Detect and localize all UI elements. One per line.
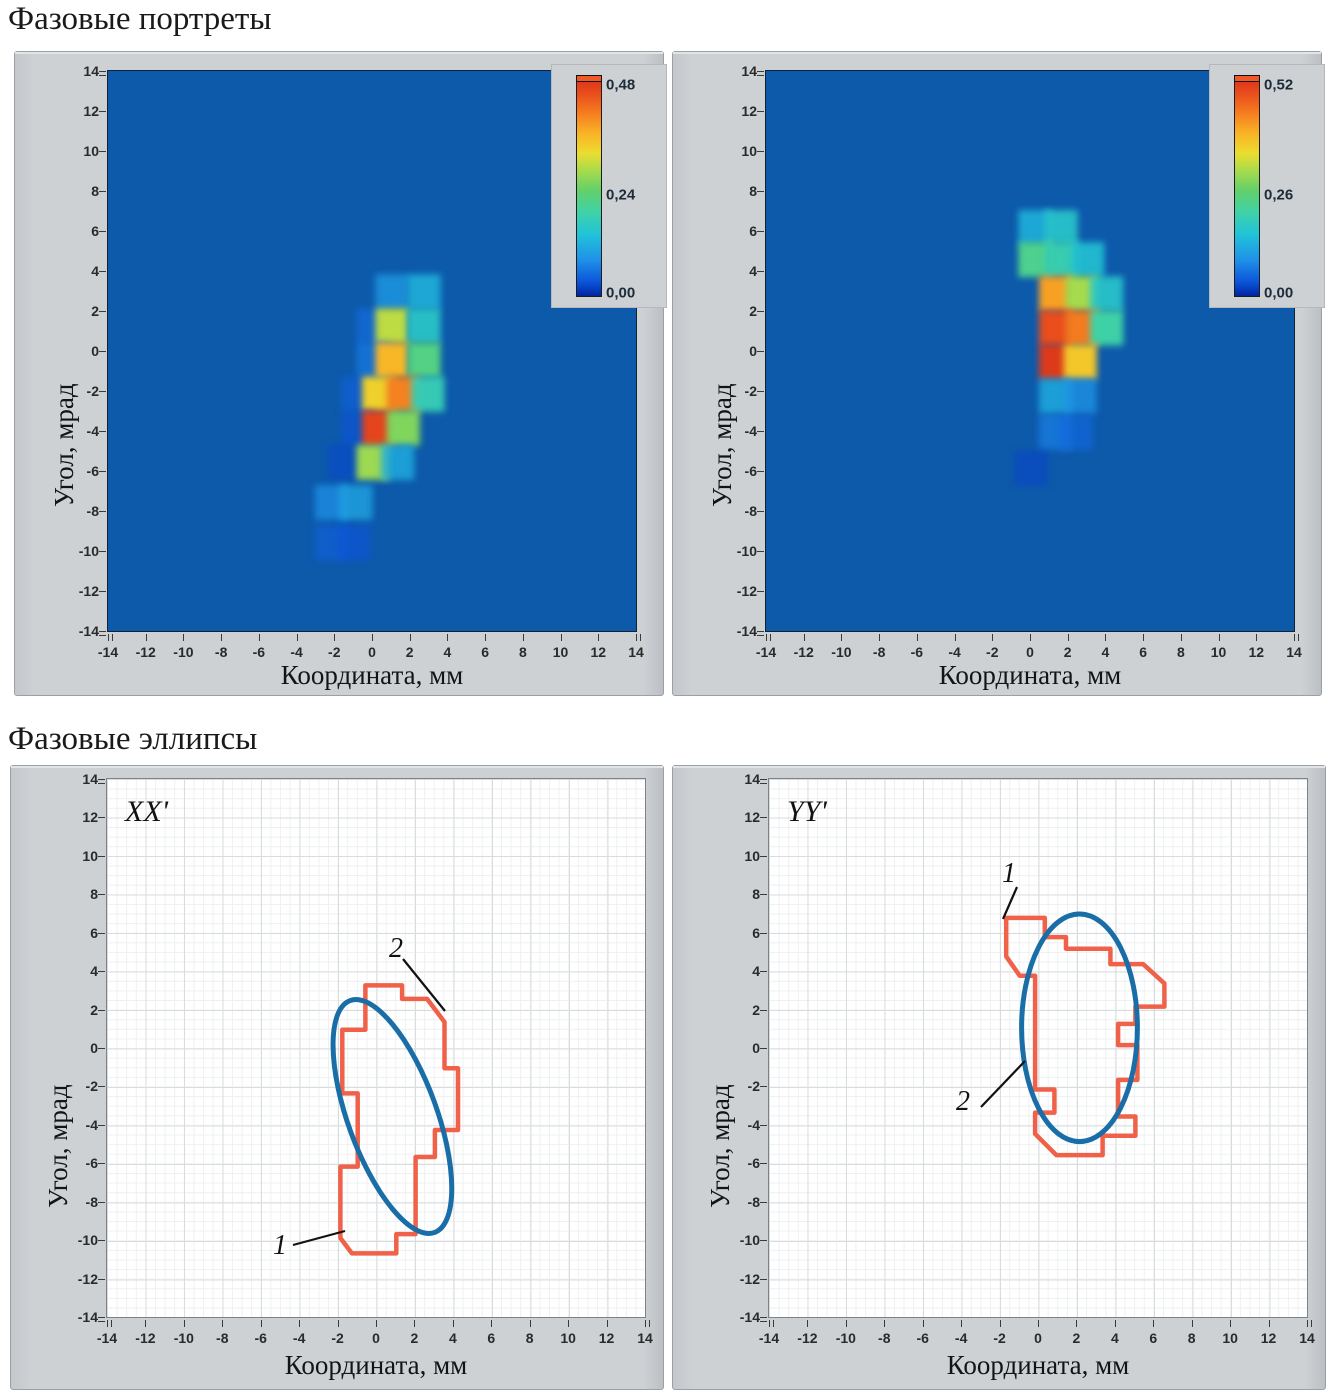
y-tick-mark (760, 971, 767, 972)
x-tick-mark (297, 634, 298, 641)
x-tick-mark (222, 1320, 223, 1327)
x-tick-label: -4 (293, 1330, 305, 1346)
x-tick-label: -14 (756, 644, 776, 660)
y-tick-label: 10 (61, 143, 99, 159)
y-tick-label: -6 (719, 463, 757, 479)
y-tick-mark (760, 1163, 767, 1164)
panel-portrait-yy: Угол, мрад 14121086420-2-4-6-8-10-12-14 … (672, 51, 1322, 696)
x-tick-label: -8 (215, 644, 227, 660)
x-tick-label: -10 (831, 644, 851, 660)
y-tick-mark (757, 71, 764, 76)
x-tick-mark (1219, 634, 1220, 641)
y-tick-mark (760, 1317, 767, 1322)
y-tick-mark (757, 111, 764, 112)
x-tick-mark (453, 1320, 454, 1327)
x-axis-title-portrait-yy: Координата, мм (765, 660, 1295, 691)
y-tick-label: 0 (722, 1040, 760, 1056)
x-tick-mark (1038, 1320, 1039, 1327)
y-tick-mark (760, 817, 767, 818)
y-tick-label: -12 (61, 583, 99, 599)
y-tick-label: -2 (719, 383, 757, 399)
colorbar-panel-portrait-xx: 0,48 0,24 0,00 (551, 64, 667, 308)
x-tick-mark (1115, 1320, 1116, 1327)
x-tick-label: -10 (173, 644, 193, 660)
y-tick-label: 10 (719, 143, 757, 159)
y-tick-label: -10 (60, 1232, 98, 1248)
y-tick-label: 14 (719, 63, 757, 79)
x-tick-label: -10 (174, 1330, 194, 1346)
x-tick-label: -12 (794, 644, 814, 660)
y-tick-label: -14 (719, 623, 757, 639)
x-tick-label: -6 (254, 1330, 266, 1346)
y-tick-label: 6 (61, 223, 99, 239)
x-tick-label: 2 (411, 1330, 419, 1346)
y-tick-label: -4 (719, 423, 757, 439)
y-tick-mark (760, 856, 767, 857)
y-tick-label: 8 (719, 183, 757, 199)
y-tick-label: -6 (61, 463, 99, 479)
y-tick-mark (99, 511, 106, 512)
plot-area-ellipse-xx: XX' (106, 778, 646, 1318)
x-tick-mark (1153, 1320, 1154, 1327)
y-tick-mark (98, 817, 105, 818)
y-tick-label: 0 (61, 343, 99, 359)
y-tick-mark (757, 471, 764, 472)
y-tick-mark (760, 779, 767, 784)
y-tick-mark (99, 231, 106, 232)
y-tick-mark (760, 933, 767, 934)
y-tick-label: 10 (722, 848, 760, 864)
x-tick-label: 4 (449, 1330, 457, 1346)
x-tick-label: -4 (290, 644, 302, 660)
y-tick-mark (757, 391, 764, 392)
y-tick-mark (757, 271, 764, 272)
x-tick-mark (917, 634, 918, 641)
y-tick-mark (757, 511, 764, 512)
y-tick-mark (757, 591, 764, 592)
x-tick-mark (1068, 634, 1069, 641)
x-tick-label: 10 (1222, 1330, 1238, 1346)
x-tick-mark (221, 634, 222, 641)
y-tick-mark (98, 1163, 105, 1164)
colorbar-tick-max-portrait-xx: 0,48 (606, 77, 635, 94)
x-tick-mark (769, 1320, 774, 1327)
x-tick-mark (961, 1320, 962, 1327)
y-tick-label: 2 (719, 303, 757, 319)
x-tick-label: 6 (1149, 1330, 1157, 1346)
x-tick-label: 12 (590, 644, 606, 660)
annotation-label-2-ellipse-xx: 2 (389, 933, 403, 965)
y-tick-label: -14 (61, 623, 99, 639)
y-tick-label: -12 (722, 1271, 760, 1287)
y-tick-mark (99, 351, 106, 352)
y-tick-label: 2 (61, 303, 99, 319)
y-tick-mark (99, 71, 106, 76)
x-tick-label: 14 (1299, 1330, 1315, 1346)
y-tick-label: -2 (60, 1078, 98, 1094)
colorbar-tick-mid-portrait-yy: 0,26 (1264, 187, 1293, 204)
x-tick-mark (491, 1320, 492, 1327)
panel-ellipse-yy: Угол, мрад 14121086420-2-4-6-8-10-12-14 … (672, 765, 1326, 1390)
y-tick-label: -12 (719, 583, 757, 599)
panel-ellipse-xx: Угол, мрад 14121086420-2-4-6-8-10-12-14 … (10, 765, 664, 1390)
y-tick-label: 12 (61, 103, 99, 119)
y-tick-mark (99, 591, 106, 592)
x-tick-label: 12 (1261, 1330, 1277, 1346)
x-tick-mark (598, 634, 599, 641)
x-tick-mark (1192, 1320, 1193, 1327)
measured-contour-path (340, 985, 458, 1253)
x-tick-label: 8 (1188, 1330, 1196, 1346)
x-tick-mark (1181, 634, 1182, 641)
x-tick-label: 2 (1064, 644, 1072, 660)
y-tick-mark (98, 779, 105, 784)
x-tick-label: 10 (553, 644, 569, 660)
x-tick-label: -14 (759, 1330, 779, 1346)
x-tick-label: -14 (98, 644, 118, 660)
x-tick-mark (376, 1320, 377, 1327)
y-tick-mark (99, 551, 106, 552)
y-tick-mark (98, 1086, 105, 1087)
y-tick-mark (98, 1317, 105, 1322)
x-tick-label: -2 (328, 644, 340, 660)
colorbar-gradient-portrait-xx (576, 75, 602, 297)
y-tick-mark (99, 391, 106, 392)
x-tick-mark (183, 634, 184, 641)
annotation-leader-line (403, 959, 445, 1011)
y-axis-title-ellipse-yy: Угол, мрад (705, 1084, 736, 1208)
x-tick-label: 4 (1111, 1330, 1119, 1346)
colorbar-overflow-cap-portrait-xx (576, 75, 602, 82)
x-tick-mark (645, 1320, 650, 1327)
y-tick-mark (98, 1010, 105, 1011)
x-tick-label: 6 (1139, 644, 1147, 660)
section-title-phase-ellipses: Фазовые эллипсы (4, 722, 257, 757)
x-tick-mark (607, 1320, 608, 1327)
y-tick-label: 0 (719, 343, 757, 359)
y-tick-mark (757, 231, 764, 232)
y-tick-mark (760, 1010, 767, 1011)
y-axis-title-ellipse-xx: Угол, мрад (43, 1084, 74, 1208)
y-tick-mark (760, 1086, 767, 1087)
y-tick-mark (99, 191, 106, 192)
y-tick-mark (98, 1279, 105, 1280)
y-tick-label: 14 (722, 771, 760, 787)
x-tick-mark (261, 1320, 262, 1327)
y-tick-label: 8 (61, 183, 99, 199)
x-tick-label: 4 (444, 644, 452, 660)
x-tick-label: 8 (1177, 644, 1185, 660)
colorbar-panel-portrait-yy: 0,52 0,26 0,00 (1209, 64, 1325, 308)
y-tick-label: 6 (719, 223, 757, 239)
measured-contour-path (1006, 918, 1164, 1155)
y-tick-label: -10 (61, 543, 99, 559)
x-tick-mark (1294, 634, 1299, 641)
y-tick-mark (99, 471, 106, 472)
x-tick-mark (1105, 634, 1106, 641)
x-tick-mark (414, 1320, 415, 1327)
x-tick-label: -2 (331, 1330, 343, 1346)
y-tick-label: -4 (722, 1117, 760, 1133)
x-tick-label: 0 (368, 644, 376, 660)
y-tick-label: 4 (719, 263, 757, 279)
y-tick-label: 14 (61, 63, 99, 79)
annotation-label-1-ellipse-xx: 1 (273, 1230, 287, 1262)
x-tick-label: 0 (372, 1330, 380, 1346)
x-tick-mark (923, 1320, 924, 1327)
x-tick-label: 14 (1286, 644, 1302, 660)
y-tick-label: -6 (60, 1155, 98, 1171)
x-tick-label: 0 (1034, 1330, 1042, 1346)
x-tick-label: -8 (216, 1330, 228, 1346)
x-tick-mark (1030, 634, 1031, 641)
x-tick-label: -12 (136, 644, 156, 660)
fitted-ellipse-path (1022, 914, 1138, 1142)
x-tick-label: -2 (993, 1330, 1005, 1346)
y-tick-label: -12 (60, 1271, 98, 1287)
annotation-label-1-ellipse-yy: 1 (1002, 858, 1016, 890)
x-tick-mark (804, 634, 805, 641)
y-tick-label: -14 (722, 1309, 760, 1325)
y-tick-label: 6 (722, 925, 760, 941)
y-tick-mark (760, 894, 767, 895)
x-tick-label: 10 (560, 1330, 576, 1346)
y-tick-label: -4 (61, 423, 99, 439)
y-tick-mark (98, 1125, 105, 1126)
y-tick-mark (760, 1279, 767, 1280)
y-tick-label: -8 (719, 503, 757, 519)
x-tick-mark (299, 1320, 300, 1327)
colorbar-tick-min-portrait-yy: 0,00 (1264, 285, 1293, 302)
x-tick-mark (1076, 1320, 1077, 1327)
x-tick-mark (1230, 1320, 1231, 1327)
y-tick-mark (99, 271, 106, 272)
y-tick-mark (98, 971, 105, 972)
x-tick-mark (766, 634, 771, 641)
y-tick-label: 8 (722, 886, 760, 902)
y-tick-label: 12 (719, 103, 757, 119)
colorbar-tick-min-portrait-xx: 0,00 (606, 285, 635, 302)
x-tick-mark (846, 1320, 847, 1327)
x-tick-mark (530, 1320, 531, 1327)
x-axis-title-ellipse-xx: Координата, мм (106, 1350, 646, 1381)
x-tick-mark (884, 1320, 885, 1327)
y-tick-mark (98, 894, 105, 895)
y-tick-label: 2 (722, 1002, 760, 1018)
x-tick-label: -8 (878, 1330, 890, 1346)
y-tick-label: 4 (60, 963, 98, 979)
x-tick-mark (410, 634, 411, 641)
y-tick-mark (757, 191, 764, 192)
y-tick-mark (760, 1202, 767, 1203)
plane-label-ellipse-xx: XX' (125, 795, 168, 829)
annotation-leader-line (293, 1231, 345, 1245)
panel-portrait-xx: Угол, мрад 14121086420-2-4-6-8-10-12-14 … (14, 51, 664, 696)
y-tick-label: -10 (719, 543, 757, 559)
annotation-leader-line (1003, 887, 1017, 919)
y-tick-label: 12 (60, 809, 98, 825)
x-tick-label: 6 (487, 1330, 495, 1346)
y-tick-label: 12 (722, 809, 760, 825)
x-tick-mark (807, 1320, 808, 1327)
x-tick-mark (107, 1320, 112, 1327)
y-tick-label: 4 (61, 263, 99, 279)
annotation-label-2-ellipse-yy: 2 (956, 1086, 970, 1118)
y-tick-label: 10 (60, 848, 98, 864)
x-axis-title-ellipse-yy: Координата, мм (768, 1350, 1308, 1381)
x-tick-label: 12 (1248, 644, 1264, 660)
y-tick-mark (757, 431, 764, 432)
colorbar-tick-mid-portrait-xx: 0,24 (606, 187, 635, 204)
x-tick-mark (447, 634, 448, 641)
x-tick-label: -4 (955, 1330, 967, 1346)
y-tick-mark (99, 311, 106, 312)
x-tick-mark (108, 634, 113, 641)
y-tick-mark (757, 631, 764, 636)
x-tick-mark (485, 634, 486, 641)
x-tick-mark (841, 634, 842, 641)
y-tick-mark (760, 1125, 767, 1126)
x-tick-mark (1307, 1320, 1312, 1327)
x-tick-label: 14 (628, 644, 644, 660)
x-tick-label: 2 (1073, 1330, 1081, 1346)
x-tick-label: -10 (836, 1330, 856, 1346)
y-tick-label: 2 (60, 1002, 98, 1018)
x-tick-mark (146, 634, 147, 641)
y-tick-mark (98, 1048, 105, 1049)
plot-area-ellipse-yy: YY' (768, 778, 1308, 1318)
x-tick-mark (338, 1320, 339, 1327)
y-tick-mark (98, 933, 105, 934)
x-tick-label: -4 (948, 644, 960, 660)
x-tick-mark (334, 634, 335, 641)
x-tick-mark (145, 1320, 146, 1327)
x-tick-label: -6 (253, 644, 265, 660)
y-tick-mark (760, 1048, 767, 1049)
x-tick-label: -6 (911, 644, 923, 660)
colorbar-gradient-portrait-yy (1234, 75, 1260, 297)
y-tick-label: -8 (722, 1194, 760, 1210)
y-tick-label: -2 (61, 383, 99, 399)
y-tick-mark (98, 1240, 105, 1241)
annotation-leader-line (981, 1061, 1025, 1107)
x-tick-mark (259, 634, 260, 641)
x-tick-label: 12 (599, 1330, 615, 1346)
y-tick-label: 4 (722, 963, 760, 979)
x-tick-mark (636, 634, 641, 641)
x-tick-mark (992, 634, 993, 641)
y-axis-title-portrait-xx: Угол, мрад (49, 383, 80, 507)
y-tick-mark (760, 1240, 767, 1241)
x-tick-label: 14 (637, 1330, 653, 1346)
y-axis-title-portrait-yy: Угол, мрад (707, 383, 738, 507)
y-tick-label: -6 (722, 1155, 760, 1171)
y-tick-mark (99, 111, 106, 112)
y-tick-label: -2 (722, 1078, 760, 1094)
y-tick-mark (757, 311, 764, 312)
x-tick-mark (955, 634, 956, 641)
x-tick-mark (523, 634, 524, 641)
x-tick-mark (1000, 1320, 1001, 1327)
colorbar-overflow-cap-portrait-yy (1234, 75, 1260, 82)
x-tick-label: -14 (97, 1330, 117, 1346)
y-tick-mark (757, 351, 764, 352)
x-tick-label: -12 (797, 1330, 817, 1346)
x-tick-mark (568, 1320, 569, 1327)
x-tick-mark (184, 1320, 185, 1327)
ellipse-overlay-yy (769, 779, 1308, 1318)
x-tick-mark (1256, 634, 1257, 641)
y-tick-label: 14 (60, 771, 98, 787)
section-title-phase-portraits: Фазовые портреты (4, 2, 272, 37)
x-tick-label: -12 (135, 1330, 155, 1346)
x-tick-mark (1269, 1320, 1270, 1327)
x-tick-label: -8 (873, 644, 885, 660)
fitted-ellipse-path (308, 985, 476, 1247)
y-tick-mark (99, 151, 106, 152)
x-tick-mark (372, 634, 373, 641)
x-tick-label: 8 (519, 644, 527, 660)
x-tick-label: 6 (481, 644, 489, 660)
x-tick-mark (1143, 634, 1144, 641)
y-tick-mark (99, 431, 106, 432)
colorbar-tick-max-portrait-yy: 0,52 (1264, 77, 1293, 94)
x-tick-label: -2 (986, 644, 998, 660)
x-tick-mark (879, 634, 880, 641)
plane-label-ellipse-yy: YY' (787, 795, 827, 829)
y-tick-label: -10 (722, 1232, 760, 1248)
x-tick-label: 2 (406, 644, 414, 660)
x-tick-label: -6 (916, 1330, 928, 1346)
ellipse-overlay-xx (107, 779, 646, 1318)
y-tick-mark (98, 1202, 105, 1203)
y-tick-label: -8 (60, 1194, 98, 1210)
y-tick-mark (757, 551, 764, 552)
x-tick-label: 0 (1026, 644, 1034, 660)
x-axis-title-portrait-xx: Координата, мм (107, 660, 637, 691)
y-tick-mark (99, 631, 106, 636)
y-tick-label: -14 (60, 1309, 98, 1325)
x-tick-label: 4 (1102, 644, 1110, 660)
y-tick-label: -8 (61, 503, 99, 519)
y-tick-label: -4 (60, 1117, 98, 1133)
y-tick-label: 0 (60, 1040, 98, 1056)
y-tick-mark (757, 151, 764, 152)
y-tick-label: 6 (60, 925, 98, 941)
x-tick-label: 10 (1211, 644, 1227, 660)
y-tick-mark (98, 856, 105, 857)
x-tick-mark (561, 634, 562, 641)
x-tick-label: 8 (526, 1330, 534, 1346)
y-tick-label: 8 (60, 886, 98, 902)
